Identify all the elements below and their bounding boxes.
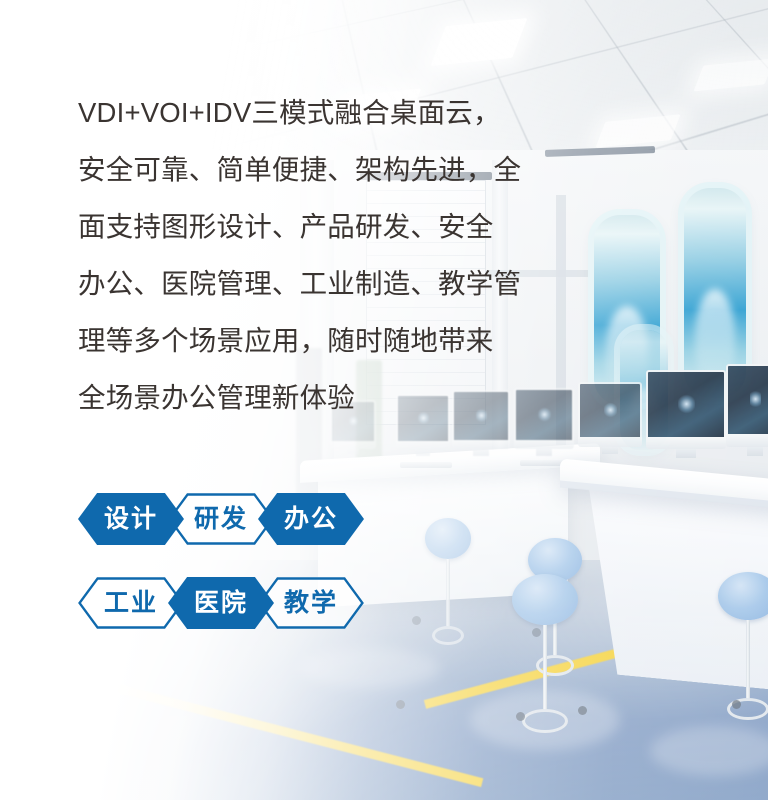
scenario-tag-row-2: 工业 医院 教学 xyxy=(78,577,348,629)
tag-label: 设计 xyxy=(104,507,158,532)
scenario-tag-group: 设计 研发 办公 xyxy=(78,493,348,629)
tag-design[interactable]: 设计 xyxy=(78,493,184,545)
tag-label: 工业 xyxy=(104,591,158,616)
tag-label: 办公 xyxy=(284,507,338,532)
promo-banner: VDI+VOI+IDV三模式融合桌面云， 安全可靠、简单便捷、架构先进，全 面支… xyxy=(0,0,768,800)
scenario-tag-row-1: 设计 研发 办公 xyxy=(78,493,348,545)
tag-label: 医院 xyxy=(194,591,248,616)
banner-content: VDI+VOI+IDV三模式融合桌面云， 安全可靠、简单便捷、架构先进，全 面支… xyxy=(0,0,768,800)
tag-label: 教学 xyxy=(284,591,338,616)
headline-paragraph: VDI+VOI+IDV三模式融合桌面云， 安全可靠、简单便捷、架构先进，全 面支… xyxy=(78,84,548,426)
tag-label: 研发 xyxy=(194,507,248,532)
tag-hospital[interactable]: 医院 xyxy=(168,577,274,629)
tag-office[interactable]: 办公 xyxy=(258,493,364,545)
